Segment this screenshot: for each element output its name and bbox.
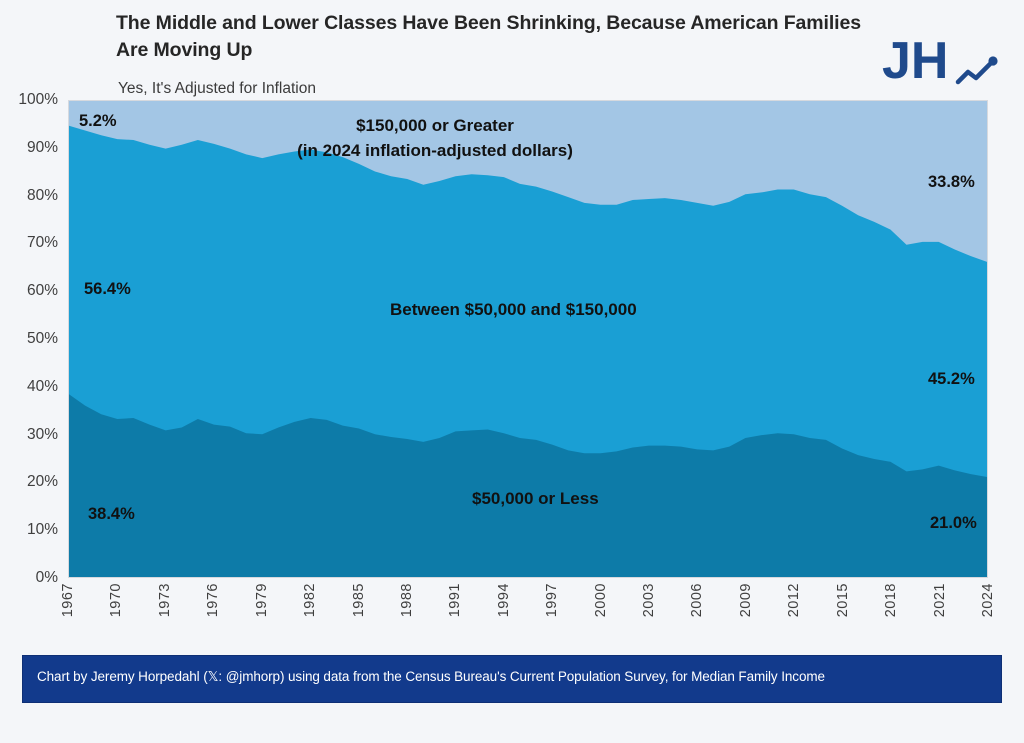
annotation-top-band-line1: $150,000 or Greater <box>356 116 514 135</box>
x-axis-tick-2000: 2000 <box>593 583 609 617</box>
y-axis-tick-20: 20% <box>27 473 58 491</box>
annotation-middle-band: Between $50,000 and $150,000 <box>390 300 637 320</box>
source-caption: Chart by Jeremy Horpedahl (𝕏: @jmhorp) u… <box>37 669 825 685</box>
x-axis-tick-2003: 2003 <box>641 583 657 617</box>
svg-text:JH: JH <box>882 32 948 90</box>
source-caption-bar: Chart by Jeremy Horpedahl (𝕏: @jmhorp) u… <box>22 655 1002 703</box>
value-label-middle-right: 45.2% <box>928 370 975 389</box>
x-axis-tick-1976: 1976 <box>205 583 221 617</box>
y-axis-tick-10: 10% <box>27 521 58 539</box>
x-axis-tick-1970: 1970 <box>108 583 124 617</box>
value-label-middle-left: 56.4% <box>84 280 131 299</box>
annotation-top-band: $150,000 or Greater (in 2024 inflation-a… <box>155 114 715 163</box>
x-axis-tick-1997: 1997 <box>544 583 560 617</box>
x-axis-tick-2018: 2018 <box>883 583 899 617</box>
y-axis-tick-50: 50% <box>27 330 58 348</box>
y-axis-tick-60: 60% <box>27 282 58 300</box>
chart-page: The Middle and Lower Classes Have Been S… <box>0 0 1024 743</box>
y-axis-tick-90: 90% <box>27 139 58 157</box>
x-axis-tick-1979: 1979 <box>254 583 270 617</box>
x-axis-tick-2015: 2015 <box>835 583 851 617</box>
x-axis-tick-1994: 1994 <box>496 583 512 617</box>
y-axis-tick-100: 100% <box>18 91 58 109</box>
y-axis-tick-70: 70% <box>27 234 58 252</box>
value-label-bottom-left: 38.4% <box>88 505 135 524</box>
annotation-top-band-line2: (in 2024 inflation-adjusted dollars) <box>297 141 573 160</box>
x-axis-tick-1982: 1982 <box>302 583 318 617</box>
x-axis-tick-2021: 2021 <box>932 583 948 617</box>
jh-logo: JH <box>880 32 1006 90</box>
y-axis-tick-80: 80% <box>27 187 58 205</box>
value-label-top-left: 5.2% <box>79 112 117 131</box>
x-axis-tick-1991: 1991 <box>447 583 463 617</box>
x-axis-tick-2024: 2024 <box>980 583 996 617</box>
value-label-bottom-right: 21.0% <box>930 514 977 533</box>
y-axis-tick-40: 40% <box>27 378 58 396</box>
x-axis-tick-1988: 1988 <box>399 583 415 617</box>
x-axis-tick-1985: 1985 <box>351 583 367 617</box>
x-axis-tick-1967: 1967 <box>60 583 76 617</box>
y-axis-tick-30: 30% <box>27 426 58 444</box>
chart-header: The Middle and Lower Classes Have Been S… <box>0 0 1024 96</box>
x-axis: 1967197019731976197919821985198819911994… <box>0 583 1024 641</box>
page-subtitle: Yes, It's Adjusted for Inflation <box>118 80 316 98</box>
page-title: The Middle and Lower Classes Have Been S… <box>116 10 876 64</box>
x-axis-tick-1973: 1973 <box>157 583 173 617</box>
x-axis-tick-2009: 2009 <box>738 583 754 617</box>
value-label-top-right: 33.8% <box>928 173 975 192</box>
x-axis-tick-2006: 2006 <box>689 583 705 617</box>
y-axis: 0%10%20%30%40%50%60%70%80%90%100% <box>0 90 64 582</box>
annotation-bottom-band: $50,000 or Less <box>472 489 599 509</box>
x-axis-tick-2012: 2012 <box>786 583 802 617</box>
